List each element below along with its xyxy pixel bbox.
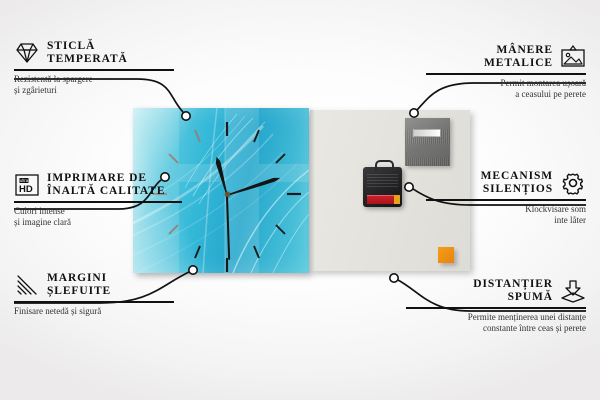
arrow-down-layer-icon xyxy=(560,279,586,303)
callout-title: STICLĂ TEMPERATĂ xyxy=(47,40,128,66)
callout-title: MECANISM SILENȚIOS xyxy=(481,170,553,196)
gear-icon xyxy=(560,171,586,195)
infographic-canvas: STICLĂ TEMPERATĂ Rezistentă la spargere … xyxy=(0,0,600,400)
movement-hook xyxy=(375,160,394,171)
metal-hanger-plate xyxy=(405,118,450,166)
callout-subtitle: Klockvisare som inte låter xyxy=(426,204,586,226)
hanger-keyhole-slot xyxy=(413,129,441,137)
callout-margini-slefuite[interactable]: MARGINI ȘLEFUITE Finisare netedă și sigu… xyxy=(14,272,174,317)
callout-subtitle: Permite menținerea unei distanțe constan… xyxy=(406,312,586,334)
svg-text:ultra: ultra xyxy=(20,178,29,183)
callout-sticla-temperata[interactable]: STICLĂ TEMPERATĂ Rezistentă la spargere … xyxy=(14,40,174,96)
callout-rule xyxy=(406,307,586,309)
callout-manere-metalice[interactable]: MÂNERE METALICE Permit montarea ușoară a… xyxy=(426,44,586,100)
quartz-movement xyxy=(363,167,402,207)
movement-texture xyxy=(367,173,398,187)
callout-title: IMPRIMARE DE ÎNALTĂ CALITATE xyxy=(47,172,165,198)
callout-subtitle: Permit montarea ușoară a ceasului pe per… xyxy=(426,78,586,100)
aa-battery xyxy=(367,195,398,204)
polished-edge-icon xyxy=(14,273,40,297)
callout-rule xyxy=(426,73,586,75)
foam-spacer xyxy=(438,247,454,263)
callout-title: DISTANȚIER SPUMĂ xyxy=(473,278,553,304)
callout-subtitle: Rezistentă la spargere și zgârieturi xyxy=(14,74,174,96)
callout-imprimare-hd[interactable]: ultra HD IMPRIMARE DE ÎNALTĂ CALITATE Cu… xyxy=(14,172,182,228)
picture-frame-icon xyxy=(560,45,586,69)
callout-rule xyxy=(426,199,586,201)
svg-text:HD: HD xyxy=(19,184,33,195)
diamond-icon xyxy=(14,41,40,65)
callout-subtitle: Finisare netedă și sigură xyxy=(14,306,174,317)
callout-rule xyxy=(14,301,174,303)
callout-distantier-spuma[interactable]: DISTANȚIER SPUMĂ Permite menținerea unei… xyxy=(406,278,586,334)
product-image xyxy=(133,108,470,273)
ultra-hd-icon: ultra HD xyxy=(14,173,40,197)
callout-rule xyxy=(14,201,182,203)
callout-rule xyxy=(14,69,174,71)
clock-pivot xyxy=(225,192,230,197)
callout-title: MÂNERE METALICE xyxy=(484,44,553,70)
callout-subtitle: Culori intense și imagine clară xyxy=(14,206,182,228)
callout-mecanism-silentios[interactable]: MECANISM SILENȚIOS Klockvisare som inte … xyxy=(426,170,586,226)
battery-terminal xyxy=(394,195,400,204)
callout-title: MARGINI ȘLEFUITE xyxy=(47,272,111,298)
